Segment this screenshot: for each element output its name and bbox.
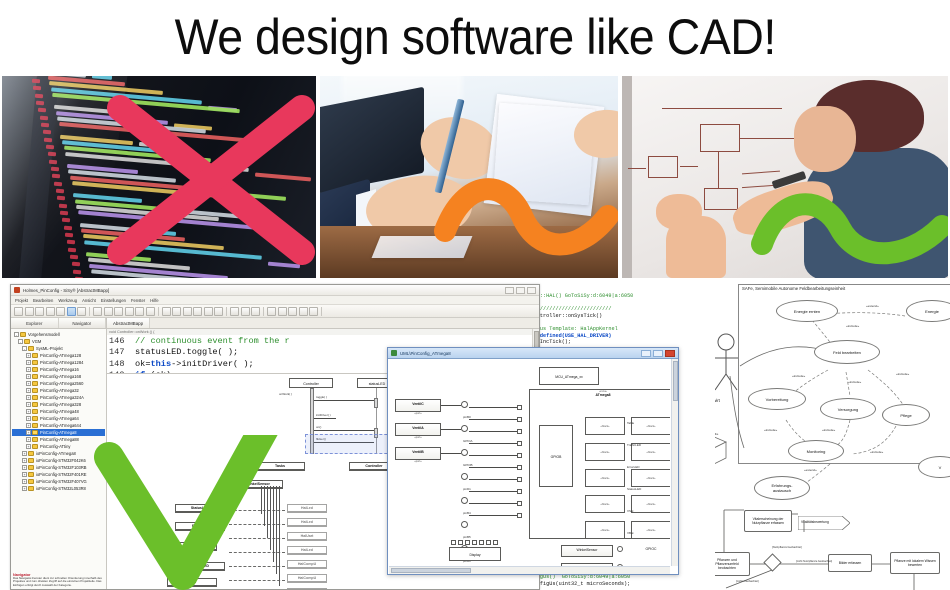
tree-item[interactable]: + PinConfig-ATmega64 [12,415,105,422]
include-label-5: «include» [764,428,777,432]
tree-expander-icon[interactable]: - [22,346,27,351]
tree-expander-icon[interactable]: + [26,444,31,449]
display-pin[interactable] [479,540,484,545]
ide-area: SAFe, Semimobile Autonome Feldbearbeitun… [0,280,950,590]
uml-class-node[interactable]: Tasks [255,462,305,471]
sisy-main-window[interactable]: Holmes_PinConfig - SiSy® [AbstractMBapp]… [10,284,540,590]
pin-circle[interactable] [461,425,468,432]
pinconfig-maximize-button[interactable] [653,350,663,357]
toolbar-button-10[interactable] [114,307,123,316]
folder-icon [32,423,38,428]
tree-item-label: ioPinConfig-STM32F103RB [36,465,87,470]
usecase-energie-ernten[interactable]: Energie ernten [776,300,838,322]
activity-edges [700,502,950,590]
tree-expander-icon[interactable]: + [22,486,27,491]
toolbar-button-6[interactable] [67,307,76,316]
tree-expander-icon[interactable]: + [26,374,31,379]
tree-item-label: VGM [32,339,41,344]
include-label-1: «include» [846,324,859,328]
toolbar-button-25[interactable] [288,307,297,316]
app-icon [14,287,20,293]
pinconfig-close-button[interactable] [665,350,675,357]
sisy-window-title: Holmes_PinConfig - SiSy® [AbstractMBapp] [23,288,109,293]
tab-abstractmbapp[interactable]: AbstractMBapp [107,318,150,328]
toolbar-button-3[interactable] [35,307,44,316]
block-gpioc[interactable]: «block»GPIOC [631,521,670,539]
tree-item-label: PinConfig-ATmega32 [40,388,79,393]
page-title: We design software like CAD! [174,8,775,66]
include-label-6: «include» [822,428,835,432]
tree-item[interactable]: + PinConfig-ATtiny [12,443,105,450]
tree-item[interactable]: - Vorgehensmodell [12,331,105,338]
tree-item[interactable]: - SysML-Projekt [12,345,105,352]
include-label-2: «include» [792,374,805,378]
tree-item[interactable]: + PinConfig-ATmega1284 [12,359,105,366]
toolbar-button-19[interactable] [214,307,223,316]
uml-class-stub[interactable]: HalLed [287,546,327,555]
line-number: 147 [109,347,135,358]
tree-item-label: PinConfig-ATmega8 [40,430,77,435]
include-label-7: «include» [870,450,883,454]
meeting-image [320,76,618,278]
display-pin[interactable] [465,540,470,545]
uml-association [267,486,268,538]
close-button[interactable] [527,287,536,294]
menu-item-werkzeug[interactable]: Werkzeug [58,298,77,303]
line-number: 146 [109,336,135,347]
extend-label-2: «extend» [804,468,817,472]
project-tree[interactable]: - Vorgehensmodell - VGM - SysML-Projekt … [11,329,106,494]
tree-expander-icon[interactable]: + [26,395,31,400]
tree-expander-icon[interactable]: - [14,332,19,337]
tree-item[interactable]: + ioPinConfig-STM32F401RE [12,471,105,478]
toolbar-button-2[interactable] [25,307,34,316]
code-editor-photo [2,76,316,278]
uml-class-stub[interactable]: HalLed [287,518,327,527]
pinconfig-title-bar: UML\PinConfig_ATmega8 [388,348,678,359]
gpio-connector[interactable] [517,405,522,410]
folder-icon [28,486,34,491]
tree-item-label: PinConfig-ATmega2560 [40,381,83,386]
tree-expander-icon[interactable]: + [22,451,27,456]
tree-item[interactable]: + PinConfig-ATmega128 [12,352,105,359]
block-gpiob[interactable]: GPIOB [539,425,573,487]
block-timer1[interactable]: «block»TIMER1 [585,443,625,461]
usecase-pflege[interactable]: Pflege [882,404,930,426]
pinconfig-canvas[interactable]: MCU_ATmega_xx«mcu»ATmega8VentilC«port»pi… [389,359,670,566]
pinconfig-minimize-button[interactable] [641,350,651,357]
message-onwork: onWork( ) [279,392,292,396]
mcu-package-note[interactable]: MCU_ATmega_xx [539,367,599,385]
tree-item[interactable]: + ioPinConfig-ATmega8 [12,450,105,457]
toolbar-separator [158,307,159,316]
display-pin[interactable] [472,540,477,545]
tree-expander-icon[interactable]: + [26,381,31,386]
tree-expander-icon[interactable]: + [26,409,31,414]
tree-item-label: ioPinConfig-STM32F042K6 [36,458,86,463]
pinconfig-scrollbar-horizontal[interactable] [389,566,670,574]
tree-item[interactable]: + PinConfig-ATmega8 [12,429,105,436]
folder-icon [20,332,26,337]
headline-bar: We design software like CAD! [0,0,950,74]
minimize-button[interactable] [505,287,514,294]
uml-class-name: ErrorLED [176,523,224,530]
gpio-connector[interactable] [517,477,522,482]
tree-expander-icon[interactable]: + [26,388,31,393]
tree-item-label: PinConfig-ATmega1284 [40,360,83,365]
port-winkelsensor[interactable]: WinkelSensor [561,545,613,557]
whiteboard-image [622,76,948,278]
toolbar-separator [226,307,227,316]
folder-icon [32,437,38,442]
tree-item[interactable]: + PinConfig-ATmega16 [12,366,105,373]
display-pin[interactable] [486,540,491,545]
uml-class-name: HalCompU [288,575,326,582]
tree-item-label: PinConfig-ATmega48 [40,409,79,414]
uml-association [273,486,274,562]
folder-icon [28,458,34,463]
tree-expander-icon[interactable]: + [26,423,31,428]
uml-class-node[interactable]: TrafficLED [175,562,225,571]
toolbar-button-17[interactable] [193,307,202,316]
uml-class-stub[interactable]: HalUart [287,532,327,541]
port-ventilc[interactable]: VentilC«port» [395,399,441,412]
tree-item-label: ioPinConfig-STM32F407VG [36,479,87,484]
folder-icon [24,339,30,344]
folder-icon [28,451,34,456]
folder-icon [32,374,38,379]
toolbar-button-8[interactable] [93,307,102,316]
toolbar-button-1[interactable] [14,307,23,316]
tree-expander-icon[interactable]: + [26,430,31,435]
toolbar-button-23[interactable] [267,307,276,316]
block-i2c[interactable]: «block»I2C [585,521,625,539]
uml-class-name: VBat [168,579,216,586]
block-comp[interactable]: «block»COMP [631,495,670,513]
usecase-energie[interactable]: Energie [906,300,950,322]
toolbar-button-12[interactable] [135,307,144,316]
help-text: Das Navigator-Fenster dient zur schnelle… [13,577,103,587]
code-line: 146// continuous event from the r [109,336,537,347]
tree-item[interactable]: + PinConfig-ATmega2560 [12,380,105,387]
port-display[interactable]: Display [449,547,501,561]
toolbar-button-24[interactable] [278,307,287,316]
folder-icon [32,416,38,421]
code-editor-image [2,76,316,278]
usecase-erfahrungsaustausch[interactable]: Erfahrungs- austausch [754,476,810,500]
tree-expander-icon[interactable]: + [26,416,31,421]
tree-item-label: PinConfig-ATmega324A [40,395,84,400]
tree-item[interactable]: + ioPinConfig-STM32F407VG [12,478,105,485]
menu-item-einstellungen[interactable]: Einstellungen [101,298,126,303]
toolbar-button-26[interactable] [299,307,308,316]
tree-item[interactable]: - VGM [12,338,105,345]
folder-icon [28,346,34,351]
uml-class-node[interactable]: Terminal [167,542,217,551]
uml-class-name: Terminal [168,543,216,550]
tab-navigator[interactable]: Navigator [59,318,107,328]
uml-class-name: HalCompU [288,561,326,568]
uml-class-name: Tasks [256,463,304,470]
tree-item-label: PinConfig-ATmega64 [40,416,79,421]
include-label-3: «include» [848,380,861,384]
usecase-vorbereitung[interactable]: Vorbereitung [748,388,806,410]
pinconfig-window-controls[interactable] [641,350,675,357]
tree-item-label: PinConfig-ATmega88 [40,437,79,442]
menu-item-ansicht[interactable]: Ansicht [82,298,96,303]
toolbar-button-22[interactable] [251,307,260,316]
tree-item-label: ioPinConfig-STM32F401RE [36,472,87,477]
folder-icon [32,367,38,372]
uml-association [279,486,280,586]
tree-item[interactable]: + PinConfig-ATmega644 [12,422,105,429]
guard-label-3: [nichts beobachtet] [736,580,759,583]
pinconfig-uml-window[interactable]: UML\PinConfig_ATmega8 MCU_ATmega_xx«mcu»… [387,347,679,575]
whiteboard-photo [622,76,948,278]
extend-label-1: «extend» [866,304,879,308]
uml-class-name: HalUart [288,533,326,540]
folder-icon [28,465,34,470]
uml-class-name: HalLed [288,547,326,554]
tree-item-label: PinConfig-ATmega128 [40,353,81,358]
toolbar-button-16[interactable] [183,307,192,316]
menu-item-hilfe[interactable]: Hilfe [150,298,158,303]
uml-association [270,486,271,550]
guard-label-1: [Nutzpflanze beobachtet] [772,546,802,549]
block-usart[interactable]: «block»USART [631,469,670,487]
folder-icon [32,360,38,365]
pin-circle[interactable] [617,546,623,552]
pin-circle[interactable] [461,401,468,408]
tree-item-label: PinConfig-ATmega328 [40,402,81,407]
gpio-connector[interactable] [517,429,522,434]
line-number: 148 [109,359,135,370]
toolbar-button-18[interactable] [204,307,213,316]
menu-item-projekt[interactable]: Projekt [15,298,28,303]
display-pin[interactable] [451,540,456,545]
gpio-connector[interactable] [517,465,522,470]
pin-circle[interactable] [461,473,468,480]
tree-item[interactable]: + PinConfig-ATmega48 [12,408,105,415]
uml-dependency [229,580,285,581]
pinconfig-scrollbar-vertical[interactable] [671,359,678,566]
folder-icon [32,395,38,400]
toolbar-button-11[interactable] [125,307,134,316]
safe-usecase-diagram: SAFe, Semimobile Autonome Feldbearbeitun… [700,280,950,590]
block-timer2[interactable]: «block»TIMER2 [585,469,625,487]
gpio-connector[interactable] [517,441,522,446]
photo-row [0,76,950,278]
tree-expander-icon[interactable]: + [22,479,27,484]
toolbar-button-4[interactable] [46,307,55,316]
uml-class-name: HalLed [288,505,326,512]
tree-expander-icon[interactable]: + [26,367,31,372]
tree-item[interactable]: + ioPinConfig-STM32L053R8 [12,485,105,492]
include-label-4: «include» [896,372,909,376]
toolbar-button-15[interactable] [172,307,181,316]
pin-circle[interactable] [461,497,468,504]
uml-association [264,486,265,526]
tree-item[interactable]: + PinConfig-ATmega88 [12,436,105,443]
folder-icon [32,409,38,414]
uml-class-node[interactable]: VBat [167,578,217,587]
uml-class-stub[interactable]: HalCompU [287,560,327,569]
tree-expander-icon[interactable]: + [26,353,31,358]
folder-icon [32,444,38,449]
gpio-connector[interactable] [517,417,522,422]
tree-item-label: ioPinConfig-ATmega8 [36,451,76,456]
port-ventila[interactable]: VentilA«port» [395,423,441,436]
uml-association [261,486,262,514]
usecase-feld-bearbeiten[interactable]: Feld bearbeiten [814,340,880,364]
port-ventilb[interactable]: VentilB«port» [395,447,441,460]
business-meeting-photo [320,76,618,278]
block-spi[interactable]: «block»SPI [585,495,625,513]
uml-class-stub[interactable]: HalSensor [287,588,327,589]
toolbar-separator [321,307,322,316]
tree-item-label: PinConfig-ATmega168 [40,374,81,379]
tree-expander-icon[interactable]: + [22,465,27,470]
message-on: on() [316,425,321,429]
folder-icon [32,402,38,407]
tree-expander-icon[interactable]: + [26,437,31,442]
folder-icon [32,353,38,358]
tree-expander-icon[interactable]: + [26,360,31,365]
menu-item-fenster[interactable]: Fenster [131,298,145,303]
uml-class-node[interactable]: StatusLED [175,504,225,513]
message-initdriver: initDriver( ) [316,413,331,417]
tree-item[interactable]: + PinConfig-ATmega168 [12,373,105,380]
menu-item-bearbeiten[interactable]: Bearbeiten [33,298,53,303]
uml-class-name: TrafficLED [176,563,224,570]
toolbar-button-21[interactable] [241,307,250,316]
uml-class-name: WinkelSensor [234,481,282,488]
uml-class-name: HalLed [288,519,326,526]
window-controls[interactable] [505,287,536,294]
project-tree-pane[interactable]: Explorer Navigator - Vorgehensmodell - V… [11,318,107,589]
folder-icon [28,472,34,477]
toolbar-button-27[interactable] [309,307,318,316]
uml-class-name: StatusLED [176,505,224,512]
tree-expander-icon[interactable]: - [18,339,23,344]
uml-association [276,486,277,574]
sisy-menu-bar[interactable]: ProjektBearbeitenWerkzeugAnsichtEinstell… [11,296,539,305]
slide-root: We design software like CAD! [0,0,950,590]
folder-icon [32,381,38,386]
gpio-connector[interactable] [517,513,522,518]
block-timer0[interactable]: «block»TIMER0 [631,417,670,435]
tree-expander-icon[interactable]: + [26,402,31,407]
tree-item[interactable]: + ioPinConfig-STM32F103RB [12,464,105,471]
block-eeprom[interactable]: «block»EEPROM [585,417,625,435]
sisy-title-bar: Holmes_PinConfig - SiSy® [AbstractMBapp] [11,285,539,296]
lifeline-controller[interactable]: Controller [289,378,333,388]
uml-class-stub[interactable]: HalCompU [287,574,327,583]
tree-item[interactable]: + PinConfig-ATmega324A [12,394,105,401]
tree-item-label: PinConfig-ATtiny [40,444,70,449]
toolbar-separator [89,307,90,316]
uml-doc-icon [391,350,397,356]
toolbar-button-5[interactable] [56,307,65,316]
tree-pane-tabs[interactable]: Explorer Navigator [11,318,106,329]
gpio-connector[interactable] [517,453,522,458]
tree-expander-icon[interactable]: + [22,472,27,477]
tree-item[interactable]: + PinConfig-ATmega32 [12,387,105,394]
tree-item-label: PinConfig-ATmega16 [40,367,79,372]
usecase-monitoring[interactable]: Monitoring [788,440,844,462]
document-tabs[interactable]: AbstractMBapp [107,318,539,329]
folder-icon [32,388,38,393]
gpio-connector[interactable] [517,489,522,494]
tree-item-label: SysML-Projekt [36,346,63,351]
display-pin[interactable] [493,540,498,545]
tree-expander-icon[interactable]: + [22,458,27,463]
tree-item-label: Vorgehensmodell [28,332,60,337]
pin-circle[interactable] [461,521,468,528]
uml-class-node[interactable]: ErrorLED [175,522,225,531]
guard-label-2: [nicht Nutzpflanze beobachtet] [796,560,832,563]
sisy-toolbar[interactable] [11,305,539,318]
toolbar-button-9[interactable] [104,307,113,316]
toolbar-button-14[interactable] [162,307,171,316]
tree-item[interactable]: + PinConfig-ATmega328 [12,401,105,408]
toolbar-button-7[interactable] [77,307,86,316]
folder-icon [28,479,34,484]
uml-class-stub[interactable]: HalLed [287,504,327,513]
toolbar-separator [263,307,264,316]
message-toggle: toggle( ) [316,395,327,399]
pinconfig-window-title: UML\PinConfig_ATmega8 [400,351,451,356]
folder-icon [32,430,38,435]
usecase-versorgung[interactable]: Versorgung [820,398,876,420]
tree-item[interactable]: + ioPinConfig-STM32F042K6 [12,457,105,464]
class-diagram: StatusLED ErrorLED Terminal TrafficLED V… [137,460,423,589]
tab-explorer[interactable]: Explorer [11,318,59,328]
toolbar-button-13[interactable] [146,307,155,316]
gpio-connector[interactable] [517,501,522,506]
pin-circle[interactable] [461,449,468,456]
tree-item-label: ioPinConfig-STM32L053R8 [36,486,86,491]
display-pin[interactable] [458,540,463,545]
toolbar-button-20[interactable] [230,307,239,316]
tree-item-label: PinConfig-ATmega644 [40,423,81,428]
maximize-button[interactable] [516,287,525,294]
